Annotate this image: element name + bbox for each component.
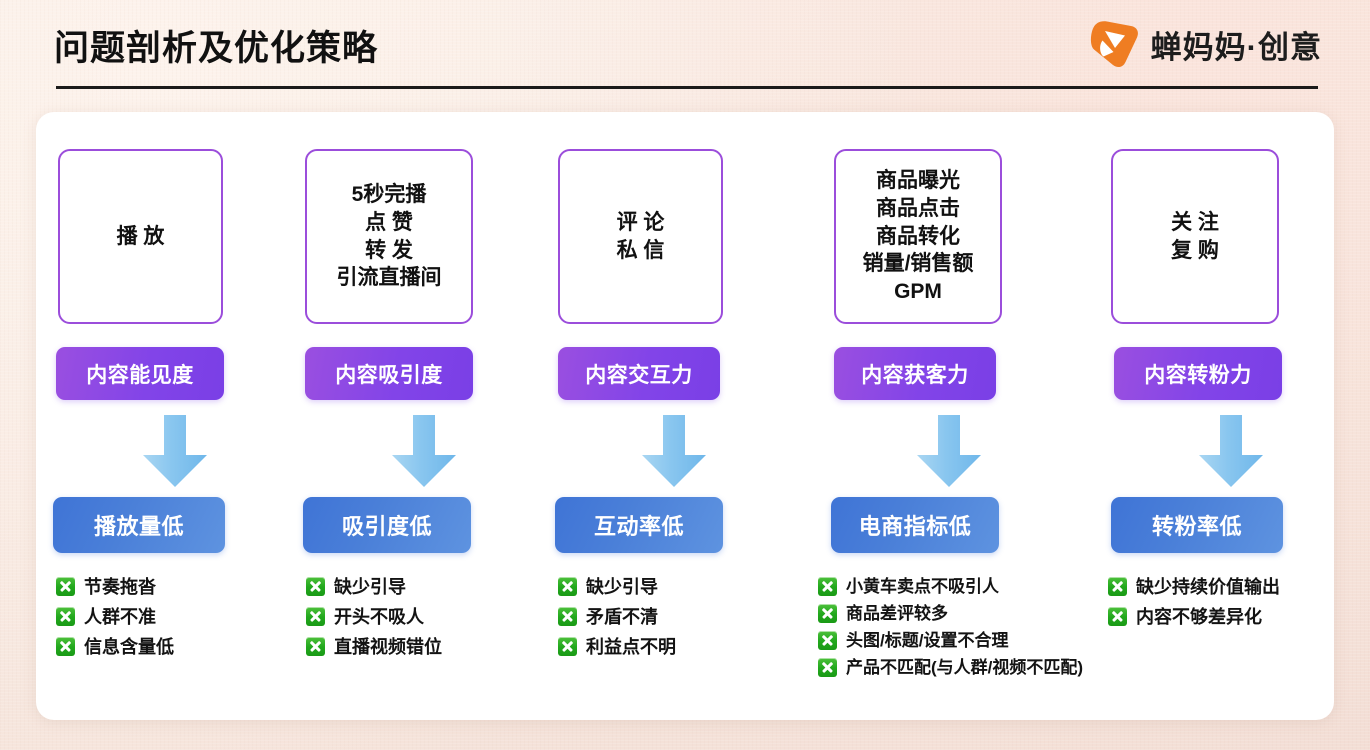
issue-text: 开头不吸人: [334, 608, 424, 626]
capability-badge-playback[interactable]: 内容能见度: [56, 347, 224, 400]
problem-badge-attraction[interactable]: 吸引度低: [303, 497, 471, 553]
issue-item: 商品差评较多: [818, 604, 1083, 623]
cross-mark-icon: [56, 607, 75, 626]
cross-mark-icon: [818, 658, 837, 677]
metric-line: 5秒完播: [352, 181, 427, 209]
issue-list-attraction: 缺少引导开头不吸人直播视频错位: [306, 577, 442, 656]
metric-line: GPM: [894, 278, 942, 306]
brand-name: 蝉妈妈·创意: [1151, 22, 1322, 67]
issue-text: 缺少引导: [334, 578, 406, 596]
capability-badge-attraction[interactable]: 内容吸引度: [305, 347, 473, 400]
cross-mark-icon: [1108, 607, 1127, 626]
cicada-logo-icon: [1085, 18, 1141, 70]
issue-text: 节奏拖沓: [84, 578, 156, 596]
content-panel: 播 放内容能见度 播放量低节奏拖沓人群不准信息含量低5秒完播点 赞转 发引流直播…: [36, 112, 1334, 720]
problem-badge-interaction[interactable]: 互动率低: [555, 497, 723, 553]
issue-item: 内容不够差异化: [1108, 607, 1280, 626]
funnel-columns: 播 放内容能见度 播放量低节奏拖沓人群不准信息含量低5秒完播点 赞转 发引流直播…: [36, 112, 1334, 720]
issue-text: 矛盾不清: [586, 608, 658, 626]
metric-line: 销量/销售额: [863, 250, 974, 278]
issue-item: 矛盾不清: [558, 607, 676, 626]
issue-text: 直播视频错位: [334, 638, 442, 656]
arrow-down-icon: [140, 415, 210, 487]
issue-list-playback: 节奏拖沓人群不准信息含量低: [56, 577, 174, 656]
page-header: 问题剖析及优化策略 蝉妈妈·创意: [0, 0, 1370, 96]
metric-line: 点 赞: [365, 209, 413, 237]
issue-list-conversion: 缺少持续价值输出内容不够差异化: [1108, 577, 1280, 626]
arrow-down-icon: [914, 415, 984, 487]
metric-line: 转 发: [365, 237, 413, 265]
cross-mark-icon: [818, 631, 837, 650]
cross-mark-icon: [1108, 577, 1127, 596]
capability-badge-interaction[interactable]: 内容交互力: [558, 347, 720, 400]
problem-badge-playback[interactable]: 播放量低: [53, 497, 225, 553]
metric-line: 评 论: [617, 209, 665, 237]
metric-card-playback[interactable]: 播 放: [58, 149, 223, 324]
issue-item: 产品不匹配(与人群/视频不匹配): [818, 658, 1083, 677]
arrow-down-icon: [1196, 415, 1266, 487]
issue-text: 人群不准: [84, 608, 156, 626]
issue-item: 直播视频错位: [306, 637, 442, 656]
metric-line: 播 放: [117, 223, 165, 251]
issue-item: 缺少持续价值输出: [1108, 577, 1280, 596]
issue-item: 头图/标题/设置不合理: [818, 631, 1083, 650]
metric-line: 商品曝光: [876, 167, 960, 195]
metric-line: 复 购: [1171, 237, 1219, 265]
cross-mark-icon: [306, 637, 325, 656]
metric-card-acquisition[interactable]: 商品曝光商品点击商品转化销量/销售额GPM: [834, 149, 1002, 324]
issue-text: 缺少持续价值输出: [1136, 578, 1280, 596]
cross-mark-icon: [818, 577, 837, 596]
issue-item: 开头不吸人: [306, 607, 442, 626]
metric-line: 商品转化: [876, 223, 960, 251]
cross-mark-icon: [56, 577, 75, 596]
issue-item: 小黄车卖点不吸引人: [818, 577, 1083, 596]
cross-mark-icon: [306, 607, 325, 626]
metric-line: 私 信: [617, 237, 665, 265]
issue-text: 小黄车卖点不吸引人: [846, 578, 999, 595]
issue-text: 利益点不明: [586, 638, 676, 656]
title-divider: [56, 86, 1318, 89]
page-title: 问题剖析及优化策略: [54, 20, 378, 71]
cross-mark-icon: [56, 637, 75, 656]
capability-badge-acquisition[interactable]: 内容获客力: [834, 347, 996, 400]
issue-item: 利益点不明: [558, 637, 676, 656]
cross-mark-icon: [818, 604, 837, 623]
issue-item: 缺少引导: [306, 577, 442, 596]
issue-text: 产品不匹配(与人群/视频不匹配): [846, 659, 1083, 676]
issue-text: 头图/标题/设置不合理: [846, 632, 1008, 649]
issue-text: 缺少引导: [586, 578, 658, 596]
capability-badge-conversion[interactable]: 内容转粉力: [1114, 347, 1282, 400]
issue-item: 人群不准: [56, 607, 174, 626]
issue-item: 缺少引导: [558, 577, 676, 596]
issue-text: 信息含量低: [84, 638, 174, 656]
cross-mark-icon: [558, 637, 577, 656]
metric-line: 关 注: [1171, 209, 1219, 237]
metric-line: 引流直播间: [337, 264, 442, 292]
brand-logo: 蝉妈妈·创意: [1085, 18, 1322, 70]
metric-card-interaction[interactable]: 评 论私 信: [558, 149, 723, 324]
arrow-down-icon: [389, 415, 459, 487]
problem-badge-acquisition[interactable]: 电商指标低: [831, 497, 999, 553]
metric-line: 商品点击: [876, 195, 960, 223]
cross-mark-icon: [558, 607, 577, 626]
issue-list-acquisition: 小黄车卖点不吸引人商品差评较多头图/标题/设置不合理产品不匹配(与人群/视频不匹…: [818, 577, 1083, 685]
cross-mark-icon: [558, 577, 577, 596]
metric-card-attraction[interactable]: 5秒完播点 赞转 发引流直播间: [305, 149, 473, 324]
arrow-down-icon: [639, 415, 709, 487]
problem-badge-conversion[interactable]: 转粉率低: [1111, 497, 1283, 553]
issue-text: 商品差评较多: [846, 605, 948, 622]
issue-text: 内容不够差异化: [1136, 608, 1262, 626]
cross-mark-icon: [306, 577, 325, 596]
metric-card-conversion[interactable]: 关 注复 购: [1111, 149, 1279, 324]
issue-list-interaction: 缺少引导矛盾不清利益点不明: [558, 577, 676, 656]
issue-item: 节奏拖沓: [56, 577, 174, 596]
issue-item: 信息含量低: [56, 637, 174, 656]
